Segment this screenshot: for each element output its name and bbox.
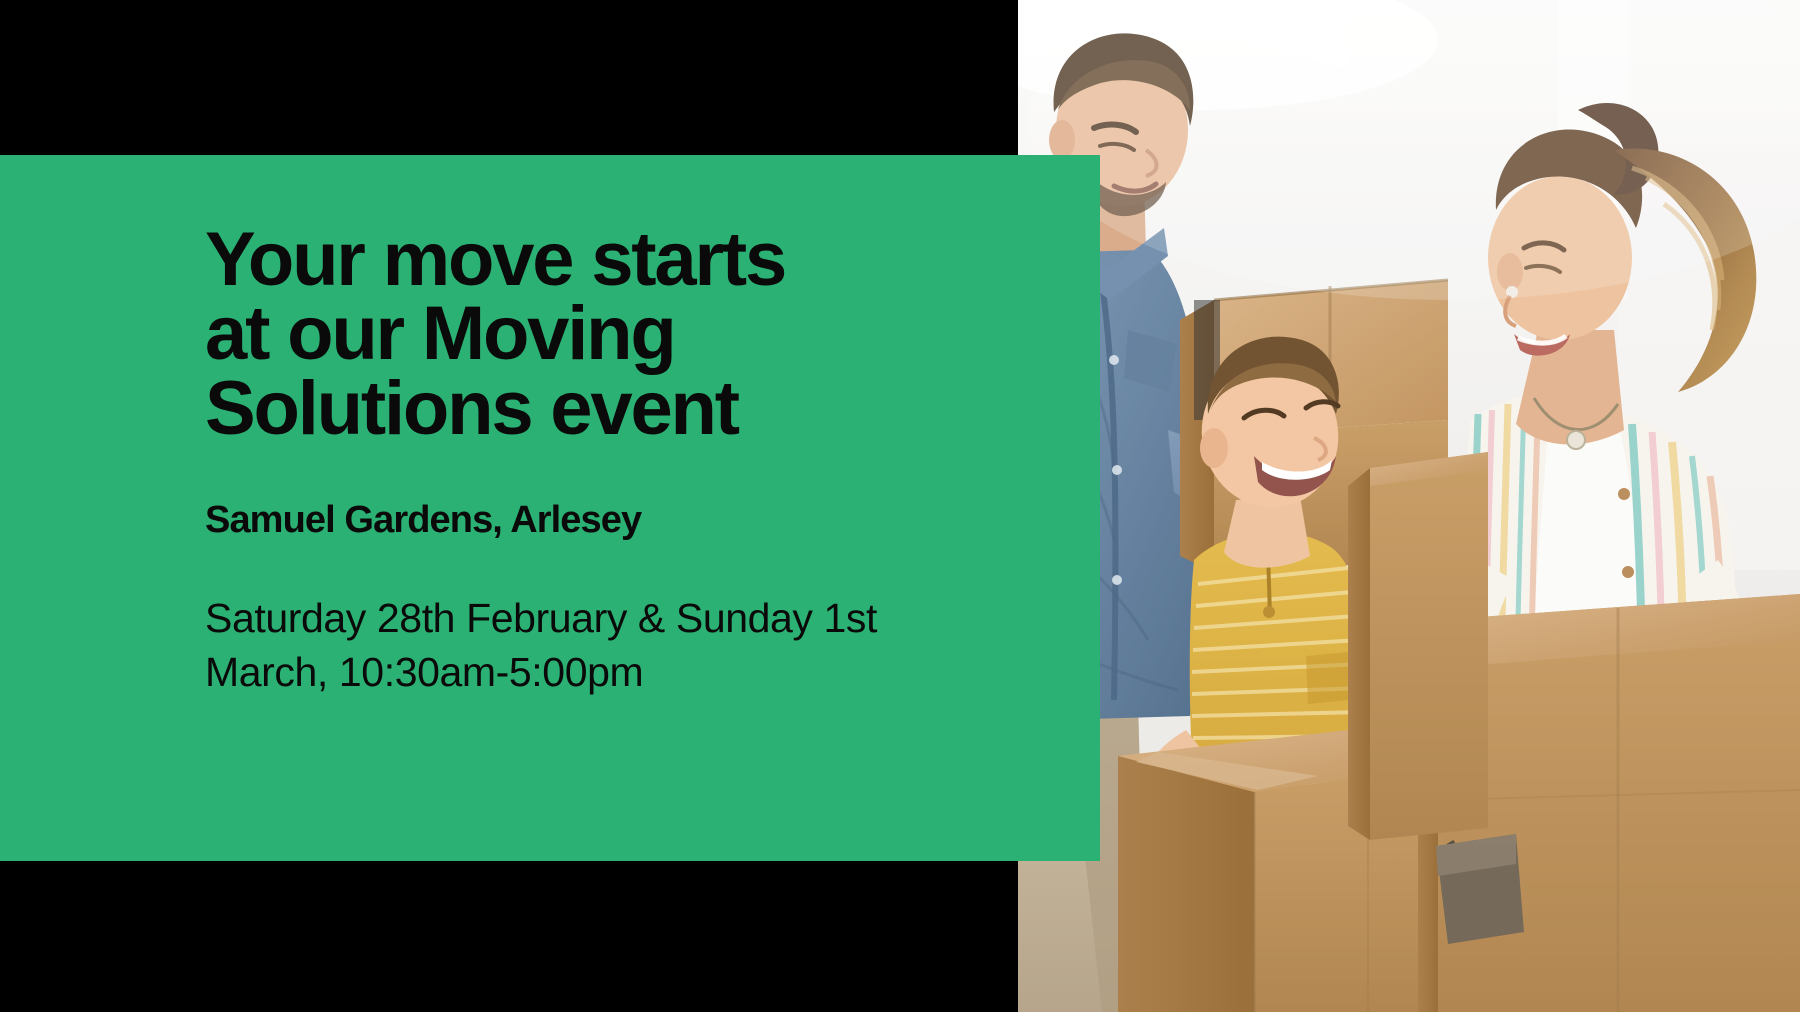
datetime-line-2: March, 10:30am-5:00pm	[205, 646, 1035, 699]
green-content-panel: Your move starts at our Moving Solutions…	[0, 155, 1100, 861]
page-title: Your move starts at our Moving Solutions…	[205, 223, 1035, 446]
headline-line-1: Your move starts	[205, 223, 1035, 297]
headline-line-2: at our Moving	[205, 297, 1035, 371]
venue-location: Samuel Gardens, Arlesey	[205, 500, 1035, 542]
family-moving-photo	[1018, 0, 1800, 1012]
event-datetime: Saturday 28th February & Sunday 1st Marc…	[205, 592, 1035, 699]
photo-illustration	[1018, 0, 1800, 1012]
promo-poster: Your move starts at our Moving Solutions…	[0, 0, 1800, 1012]
headline-line-3: Solutions event	[205, 372, 1035, 446]
copy-block: Your move starts at our Moving Solutions…	[205, 223, 1035, 699]
datetime-line-1: Saturday 28th February & Sunday 1st	[205, 592, 1035, 645]
